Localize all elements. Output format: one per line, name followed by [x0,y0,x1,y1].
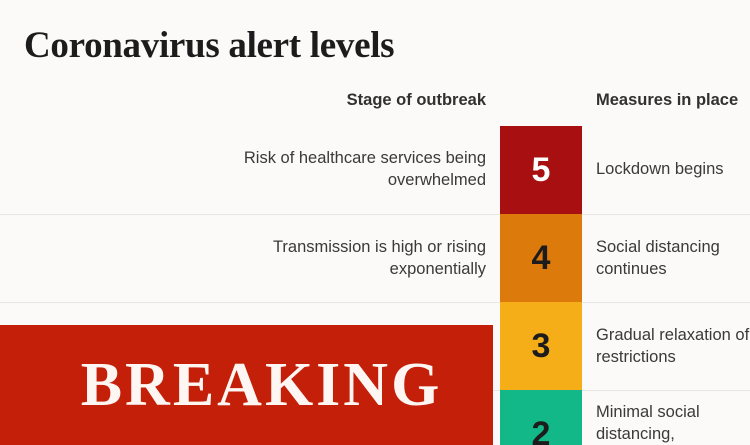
column-header-measures: Measures in place [596,91,738,110]
level-badge-5: 5 [500,126,582,214]
measure-cell: Social distancing continues [582,214,750,302]
measure-text: Gradual relaxation of restrictions [596,325,750,369]
infographic-canvas: Coronavirus alert levels Stage of outbre… [0,0,750,445]
level-number: 4 [532,239,551,278]
stage-cell: Risk of healthcare services being overwh… [0,126,500,214]
breaking-news-banner: BREAKING [0,325,493,445]
page-title: Coronavirus alert levels [24,24,394,67]
measure-cell: Lockdown begins [582,126,750,214]
level-badge-2: 2 [500,390,582,445]
table-row: Transmission is high or rising exponenti… [0,214,750,302]
measure-text: Social distancing continues [596,237,750,281]
level-badge-3: 3 [500,302,582,390]
level-badge-4: 4 [500,214,582,302]
level-number: 2 [532,415,551,445]
stage-text: Transmission is high or rising exponenti… [186,237,486,281]
measure-cell: Minimal social distancing, enhanced trac… [582,390,750,445]
level-number: 3 [532,327,551,366]
measure-text: Minimal social distancing, enhanced trac… [596,402,750,445]
column-header-stage: Stage of outbreak [0,91,492,110]
measure-cell: Gradual relaxation of restrictions [582,302,750,390]
level-number: 5 [532,151,551,190]
table-row: Risk of healthcare services being overwh… [0,126,750,214]
breaking-label: BREAKING [51,354,443,416]
stage-text: Risk of healthcare services being overwh… [186,148,486,192]
stage-cell: Transmission is high or rising exponenti… [0,214,500,302]
measure-text: Lockdown begins [596,159,750,181]
